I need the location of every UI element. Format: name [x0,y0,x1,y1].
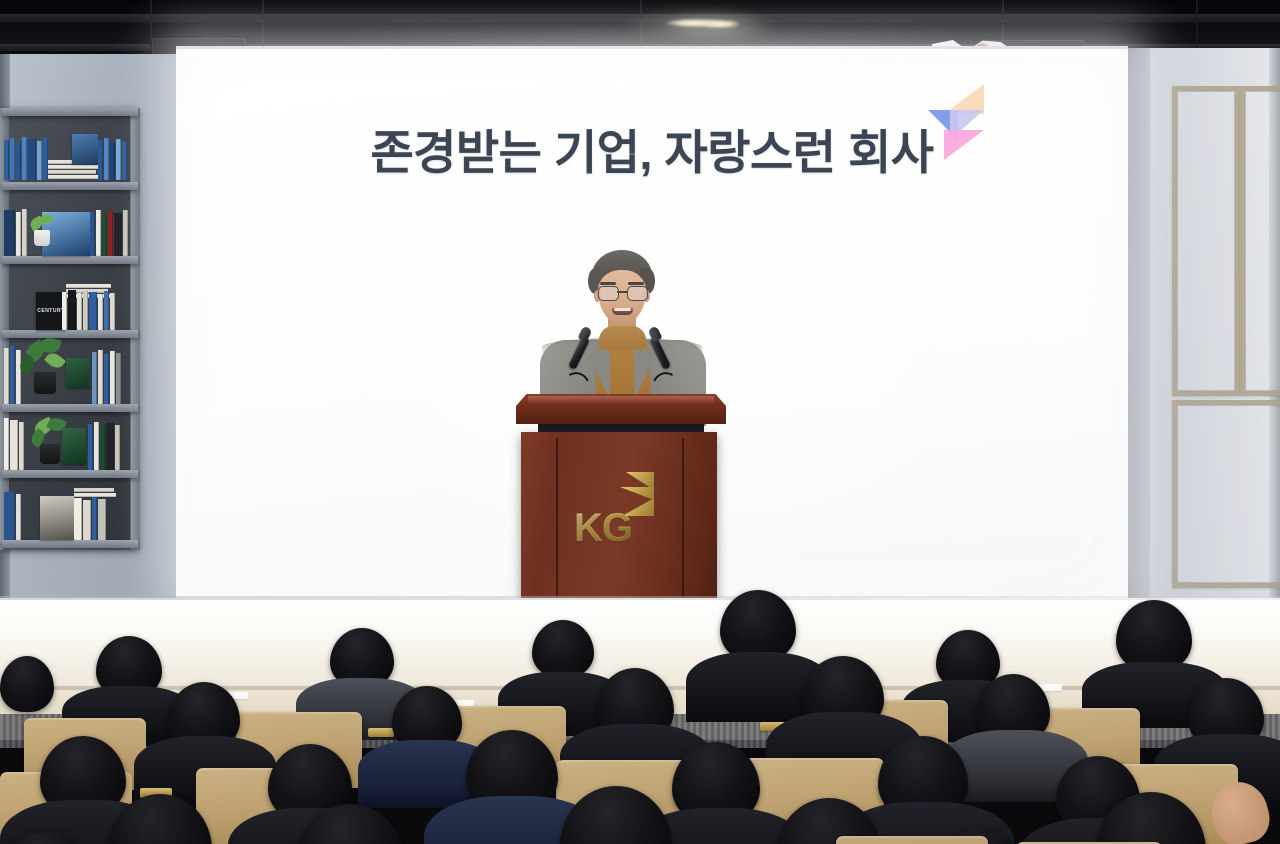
book-row [74,496,106,540]
bookshelf-board [2,470,138,478]
shelf-decor-photo [66,358,90,388]
glasses-lens-left [598,286,619,301]
book-row [4,344,21,404]
book-row [90,210,128,256]
book-row [92,348,121,404]
glasses-lens-right [627,286,648,301]
bookshelf-board [2,404,138,412]
book-row [88,420,120,470]
slide-corner-logo [928,84,984,158]
audience-head [0,656,54,712]
logo-triangle-pink [944,130,984,160]
ceiling-panel-seam [262,0,264,46]
book-row [98,138,127,180]
wall-panel-frame-tall-right [1240,86,1280,396]
presenter-eyebrow-left [600,282,616,285]
presenter-eyebrow-right [628,282,644,285]
slide-title: 존경받는 기업, 자랑스런 회사 [176,126,1128,180]
bookshelf-board [2,330,138,338]
bookshelf-board [2,540,138,548]
glasses-bridge [617,291,627,293]
ceiling-downlight [700,20,740,28]
shelf-plant-pot [40,444,60,464]
presenter-turtleneck-collar [599,326,646,350]
book-row [4,490,21,540]
chair-hinge [368,728,394,737]
podium-top-highlight [528,396,714,404]
screen-top-edge [176,46,1128,49]
presenter-teeth [614,308,631,311]
podium-brand-text: KG [574,508,632,548]
auditorium-chair[interactable] [836,836,988,844]
book-row [62,290,115,330]
wall-panel-frame-tall-left [1172,86,1240,396]
right-wall-return [1128,48,1150,614]
book-row [4,416,24,470]
shelf-plant-pot [34,372,56,394]
audience [0,560,1280,844]
book-row [4,208,27,256]
book-row [4,136,48,180]
shelf-decor-photo [72,134,98,164]
audience-head [532,620,594,678]
bookshelf-side-right [131,108,140,550]
auditorium-scene: CENTURY [0,0,1280,844]
bookshelf-board [2,256,138,264]
ceiling-panel-seam [1196,0,1198,46]
kg-mark-triangle-middle [620,487,654,500]
shelf-decor-photo [62,428,86,464]
bookshelf-board [2,182,138,190]
logo-triangle-peach [944,84,984,114]
bookshelf-board [2,108,138,116]
shelf-decor-photo [40,496,74,540]
shelf-plant-pot [34,230,50,246]
